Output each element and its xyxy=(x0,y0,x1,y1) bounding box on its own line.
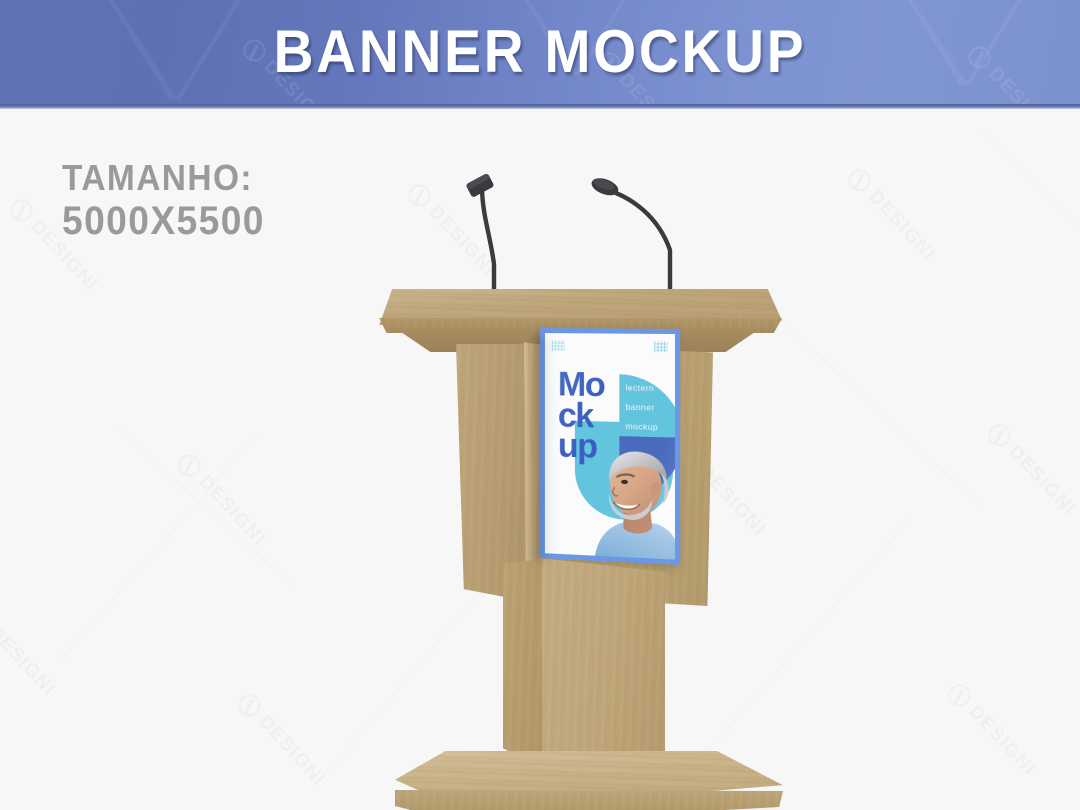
size-label: TAMANHO: xyxy=(62,158,265,199)
poster-subtitle-line-3: mockup xyxy=(626,417,659,437)
watermark-text: DESIGNI xyxy=(0,81,40,104)
lectern-pedestal-side xyxy=(503,559,546,779)
size-value: 5000X5500 xyxy=(62,199,265,244)
poster-frame: Mo ck up lectern banner mockup xyxy=(540,328,680,565)
banner-poster[interactable]: Mo ck up lectern banner mockup xyxy=(540,328,680,565)
poster-photo-speaker xyxy=(589,442,675,559)
page-title: BANNER MOCKUP xyxy=(43,22,1037,82)
lectern-pedestal-front xyxy=(542,556,665,784)
poster-subtitle: lectern banner mockup xyxy=(626,378,659,436)
lectern-base-edge xyxy=(395,790,783,810)
poster-artwork: Mo ck up lectern banner mockup xyxy=(545,333,675,560)
poster-subtitle-line-2: banner xyxy=(626,398,659,418)
size-info: TAMANHO: 5000X5500 xyxy=(62,158,280,244)
poster-subtitle-line-1: lectern xyxy=(626,378,659,398)
header-banner: DESIGNI DESIGNI DESIGNI DESIGNI BANNER M… xyxy=(0,0,1080,104)
mockup-page: DESIGNI DESIGNI DESIGNI DESIGNI BANNER M… xyxy=(0,0,1080,810)
poster-shadow xyxy=(534,336,554,562)
watermark: DESIGNI xyxy=(0,60,40,104)
registration-grid-icon xyxy=(654,341,667,352)
